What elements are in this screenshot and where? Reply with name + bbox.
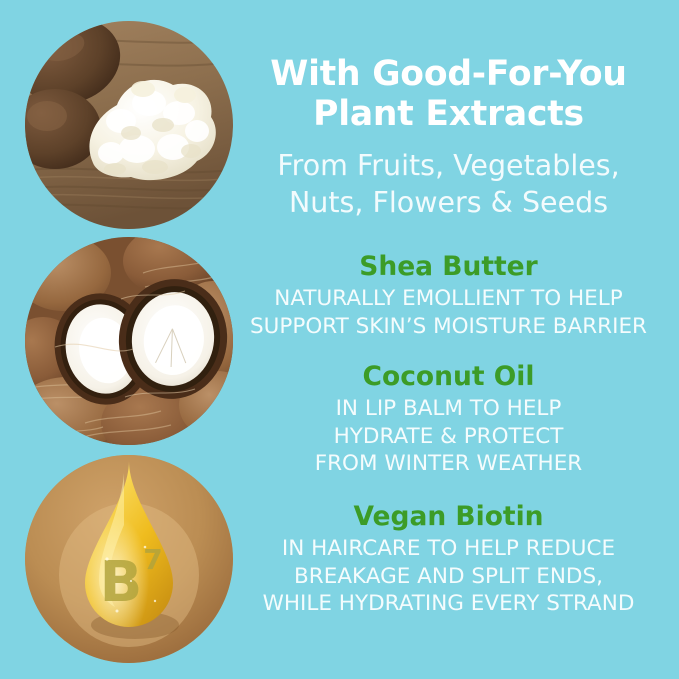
headline-line-2: Plant Extracts	[243, 94, 654, 134]
ingredient-desc-line: FROM WINTER WEATHER	[243, 450, 654, 478]
ingredient-title-vegan-biotin: Vegan Biotin	[243, 501, 654, 532]
page-title: With Good-For-You Plant Extracts	[243, 54, 654, 134]
ingredient-desc-line: WHILE HYDRATING EVERY STRAND	[243, 590, 654, 618]
ingredient-description-vegan-biotin: IN HAIRCARE TO HELP REDUCE BREAKAGE AND …	[243, 535, 654, 618]
photo-column: B 7	[0, 0, 250, 679]
subhead-line-2: Nuts, Flowers & Seeds	[243, 184, 654, 221]
ingredient-description-shea-butter: NATURALLY EMOLLIENT TO HELP SUPPORT SKIN…	[243, 285, 654, 340]
biotin-photo: B 7	[25, 455, 233, 663]
ingredient-title-coconut-oil: Coconut Oil	[243, 361, 654, 392]
ingredient-description-coconut-oil: IN LIP BALM TO HELP HYDRATE & PROTECT FR…	[243, 395, 654, 478]
ingredient-block-vegan-biotin: Vegan Biotin IN HAIRCARE TO HELP REDUCE …	[243, 501, 654, 618]
biotin-drop-superscript: 7	[143, 543, 162, 576]
page-subtitle: From Fruits, Vegetables, Nuts, Flowers &…	[243, 147, 654, 221]
ingredient-desc-line: SUPPORT SKIN’S MOISTURE BARRIER	[243, 313, 654, 341]
subhead-line-1: From Fruits, Vegetables,	[243, 147, 654, 184]
ingredient-desc-line: IN LIP BALM TO HELP	[243, 395, 654, 423]
coconut-photo	[25, 237, 233, 445]
ingredient-block-coconut-oil: Coconut Oil IN LIP BALM TO HELP HYDRATE …	[243, 361, 654, 478]
ingredient-title-shea-butter: Shea Butter	[243, 251, 654, 282]
ingredient-desc-line: HYDRATE & PROTECT	[243, 423, 654, 451]
headline-line-1: With Good-For-You	[243, 54, 654, 94]
ingredient-desc-line: BREAKAGE AND SPLIT ENDS,	[243, 563, 654, 591]
shea-butter-photo	[25, 21, 233, 229]
ingredient-block-shea-butter: Shea Butter NATURALLY EMOLLIENT TO HELP …	[243, 251, 654, 340]
text-column: With Good-For-You Plant Extracts From Fr…	[243, 0, 654, 679]
ingredient-desc-line: IN HAIRCARE TO HELP REDUCE	[243, 535, 654, 563]
product-benefits-poster: B 7 With Good-For-You Plant Extracts Fro…	[0, 0, 679, 679]
ingredient-desc-line: NATURALLY EMOLLIENT TO HELP	[243, 285, 654, 313]
